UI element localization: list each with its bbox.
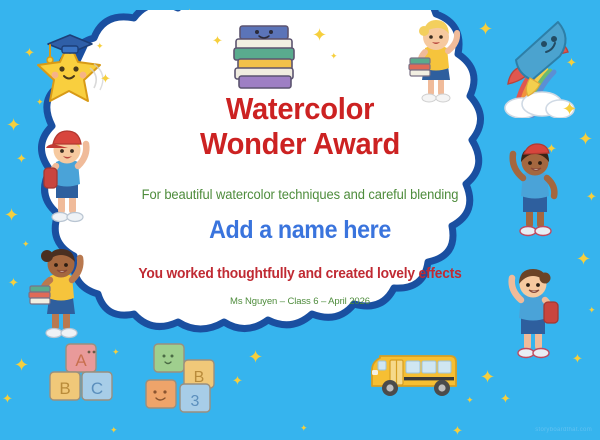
certificate-canvas: ✦ ✦ ✦ ✦ ✦ ✦ ✦ ✦ ✦ ✦ ✦ ✦ ✦ ✦ ✦ ✦ ✦ ✦ ✦ ✦ …: [0, 0, 600, 440]
svg-text:B: B: [194, 369, 205, 386]
svg-text:A: A: [75, 351, 87, 370]
school-bus-icon: [362, 340, 466, 404]
svg-text:C: C: [91, 379, 103, 398]
sparkle-icon: ✦: [2, 392, 13, 405]
sparkle-icon: ✦: [586, 190, 597, 203]
certificate-text-block: Watercolor Wonder Award For beautiful wa…: [110, 92, 490, 307]
number-blocks-icon: B 3: [140, 340, 226, 416]
graduation-star-mascot-icon: [26, 22, 112, 108]
certificate-subtitle: For beautiful watercolor techniques and …: [118, 187, 483, 202]
rocket-with-rainbow-icon: [486, 14, 580, 118]
book-stack-icon: [228, 14, 302, 92]
certificate-title-line2: Wonder Award: [121, 127, 478, 162]
boy-backpack-waving-icon: [500, 262, 566, 362]
recipient-name-placeholder[interactable]: Add a name here: [123, 216, 476, 245]
watermark-text: storyboardthat.com: [535, 427, 592, 433]
svg-text:3: 3: [191, 393, 200, 410]
svg-text:B: B: [59, 379, 70, 398]
abc-blocks-icon: A B C: [44, 336, 126, 410]
girl-carrying-books-icon: [26, 242, 92, 340]
certificate-footer: Ms Nguyen – Class 6 – April 2026: [110, 296, 490, 307]
certificate-title-line1: Watercolor: [121, 92, 478, 127]
boy-red-cap-waving-icon: [500, 140, 566, 240]
boy-with-cap-waving-icon: [36, 128, 98, 226]
certificate-praise-line: You worked thoughtfully and created love…: [120, 266, 481, 282]
sparkle-icon: ✦: [588, 306, 596, 315]
